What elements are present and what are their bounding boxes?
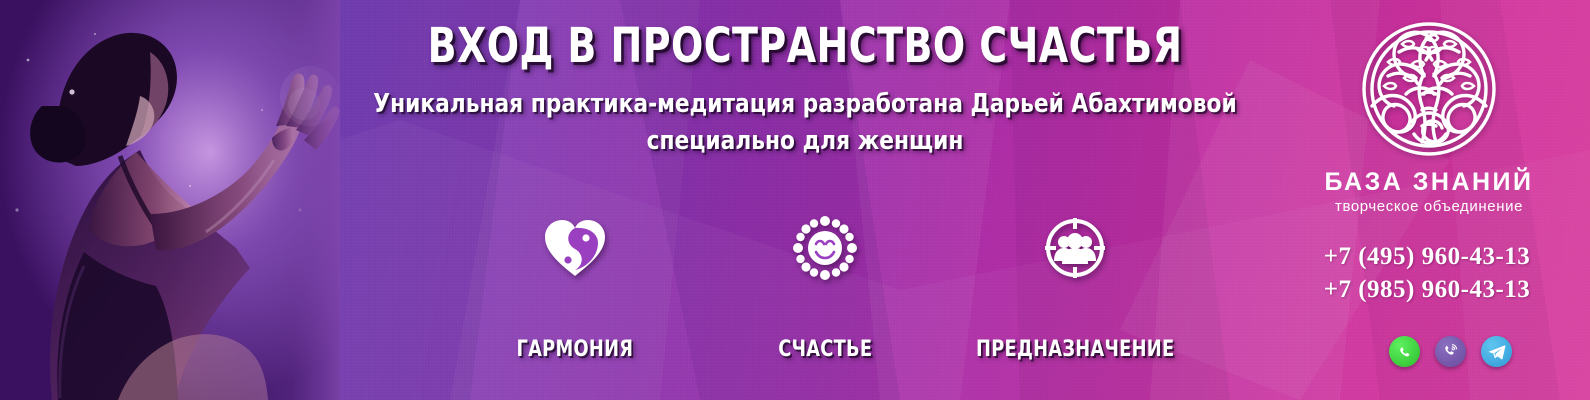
smiling-sun-icon (793, 200, 857, 295)
brand-block: БАЗА ЗНАНИЙ творческое объединение (1294, 14, 1564, 215)
promo-banner: ВХОД В ПРОСТРАНСТВО СЧАСТЬЯ Уникальная п… (0, 0, 1590, 400)
feature-harmony: ГАРМОНИЯ (455, 200, 695, 362)
target-people-icon (1043, 200, 1107, 295)
page-subtitle: Уникальная практика-медитация разработан… (335, 86, 1274, 160)
feature-list: ГАРМОНИЯ (455, 200, 1195, 375)
feature-label: ГАРМОНИЯ (517, 337, 634, 362)
subtitle-line-1: Уникальная практика-медитация разработан… (335, 86, 1274, 123)
heart-yinyang-icon (544, 200, 606, 295)
feature-purpose: ПРЕДНАЗНАЧЕНИЕ (955, 200, 1195, 362)
social-links (1389, 336, 1512, 367)
feature-label: СЧАСТЬЕ (778, 337, 872, 362)
woman-photo (0, 0, 340, 400)
headline-block: ВХОД В ПРОСТРАНСТВО СЧАСТЬЯ Уникальная п… (300, 22, 1310, 160)
brand-tagline: творческое объединение (1294, 198, 1564, 215)
phone-secondary[interactable]: +7 (985) 960-43-13 (1292, 273, 1562, 306)
feature-happiness: СЧАСТЬЕ (705, 200, 945, 362)
telegram-icon[interactable] (1481, 336, 1512, 367)
celtic-tree-of-life-icon (1294, 14, 1564, 164)
whatsapp-icon[interactable] (1389, 336, 1420, 367)
contact-phones: +7 (495) 960-43-13 +7 (985) 960-43-13 (1292, 240, 1562, 307)
page-title: ВХОД В ПРОСТРАНСТВО СЧАСТЬЯ (361, 22, 1250, 70)
feature-label: ПРЕДНАЗНАЧЕНИЕ (976, 337, 1174, 362)
phone-primary[interactable]: +7 (495) 960-43-13 (1292, 240, 1562, 273)
subtitle-line-2: специально для женщин (335, 123, 1274, 160)
viber-icon[interactable] (1435, 336, 1466, 367)
brand-name: БАЗА ЗНАНИЙ (1294, 168, 1564, 197)
